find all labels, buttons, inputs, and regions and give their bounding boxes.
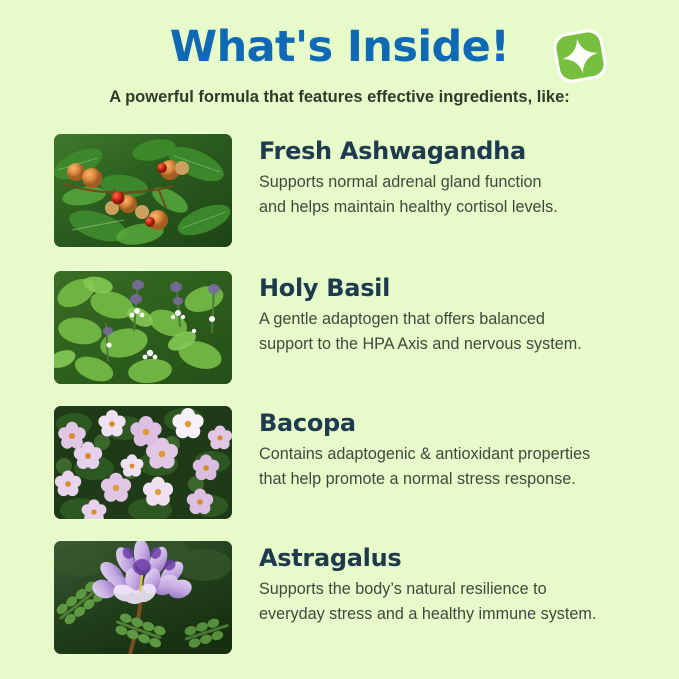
desc-line-2: everyday stress and a healthy immune sys… [259, 602, 659, 627]
desc-line-2: that help promote a normal stress respon… [259, 467, 659, 492]
list-item: Astragalus Supports the body’s natural r… [54, 541, 654, 656]
desc-line-1: Supports normal adrenal gland function [259, 170, 659, 195]
list-item: Holy Basil A gentle adaptogen that offer… [54, 271, 654, 386]
desc-line-2: support to the HPA Axis and nervous syst… [259, 332, 659, 357]
ingredient-text: Holy Basil A gentle adaptogen that offer… [259, 273, 659, 357]
list-item: Fresh Ashwagandha Supports normal adrena… [54, 134, 654, 249]
ingredient-name: Astragalus [259, 543, 659, 573]
ingredient-name: Bacopa [259, 408, 659, 438]
bacopa-flowers-photo [54, 406, 232, 519]
ingredient-name: Fresh Ashwagandha [259, 136, 659, 166]
list-item: Bacopa Contains adaptogenic & antioxidan… [54, 406, 654, 521]
ingredient-description: Contains adaptogenic & antioxidant prope… [259, 442, 659, 492]
desc-line-1: A gentle adaptogen that offers balanced [259, 307, 659, 332]
desc-line-1: Contains adaptogenic & antioxidant prope… [259, 442, 659, 467]
ingredient-text: Astragalus Supports the body’s natural r… [259, 543, 659, 627]
ashwagandha-plant-photo [54, 134, 232, 247]
desc-line-2: and helps maintain healthy cortisol leve… [259, 195, 659, 220]
holy-basil-plant-photo [54, 271, 232, 384]
ingredient-description: A gentle adaptogen that offers balanced … [259, 307, 659, 357]
whats-inside-infographic: What's Inside! A powerful formula that f… [0, 0, 679, 679]
ingredient-name: Holy Basil [259, 273, 659, 303]
ingredient-text: Fresh Ashwagandha Supports normal adrena… [259, 136, 659, 220]
ingredient-description: Supports normal adrenal gland function a… [259, 170, 659, 220]
ingredient-list: Fresh Ashwagandha Supports normal adrena… [0, 0, 679, 679]
ingredient-description: Supports the body’s natural resilience t… [259, 577, 659, 627]
astragalus-flower-photo [54, 541, 232, 654]
desc-line-1: Supports the body’s natural resilience t… [259, 577, 659, 602]
ingredient-text: Bacopa Contains adaptogenic & antioxidan… [259, 408, 659, 492]
